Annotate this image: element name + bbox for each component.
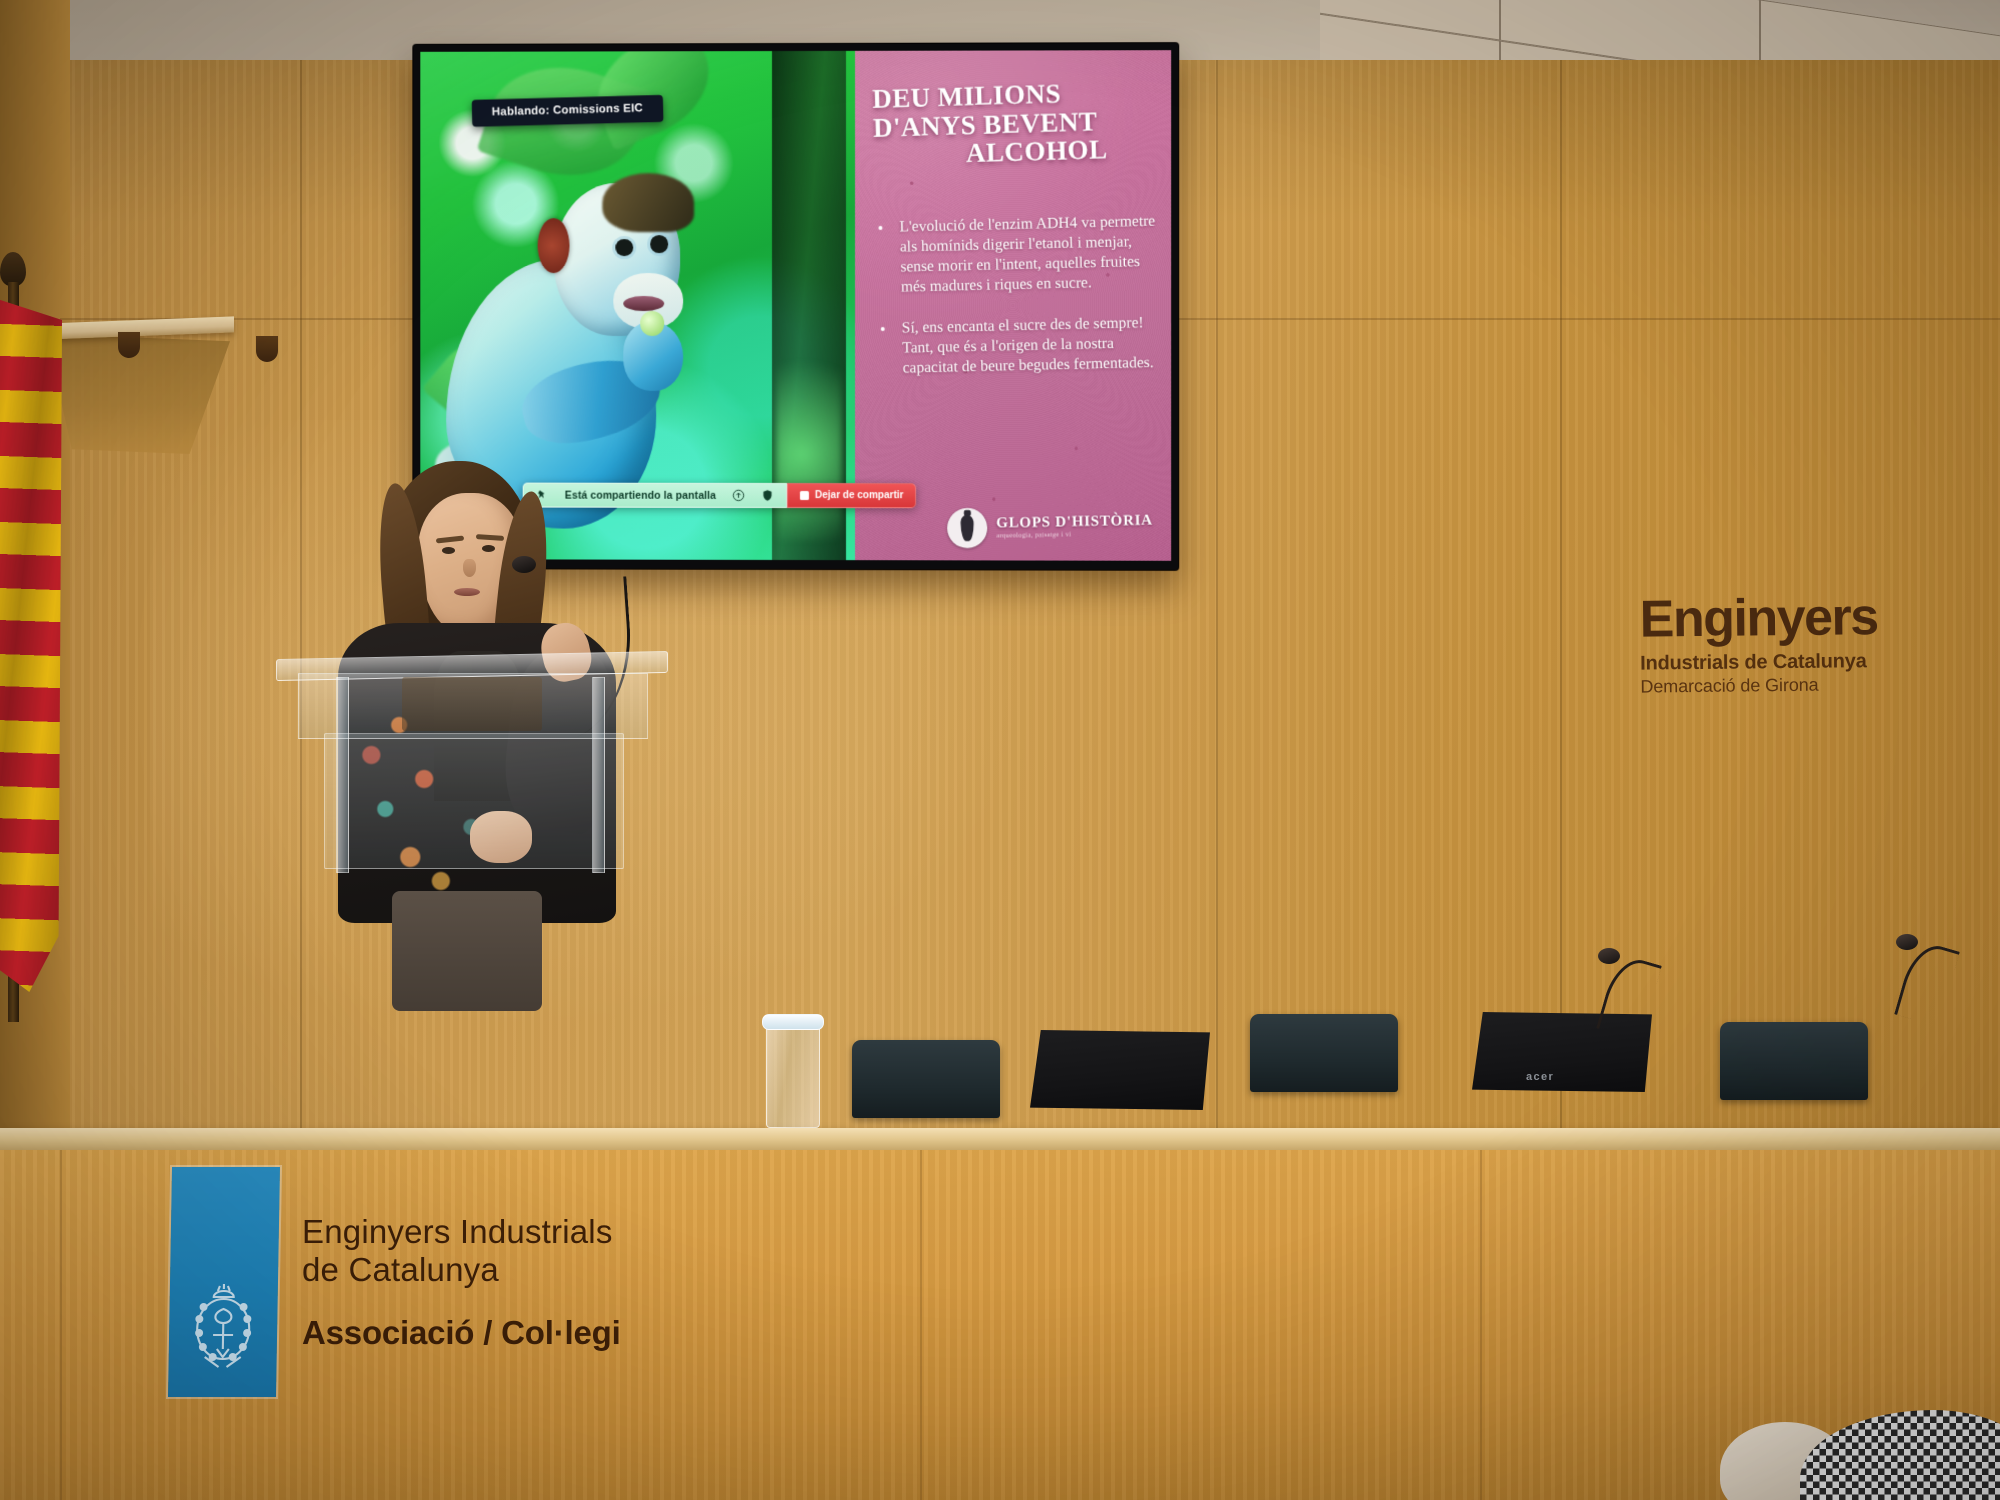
wall-seam [1216,60,1218,1150]
conference-room-photo: DEU MILIONS D'ANYS BEVENT ALCOHOL L'evol… [0,0,2000,1500]
stop-share-icon [800,491,809,500]
slide-title-line1: DEU MILIONS D'ANYS BEVENT [871,76,1157,142]
stop-share-button[interactable]: Dejar de compartir [787,483,916,508]
wall-sign-line2: Industrials de Catalunya [1640,649,1940,675]
plaque-line3: Associació / Col·legi [302,1314,772,1352]
wall-sign-enginyers: Enginyers Industrials de Catalunya Demar… [1639,590,1940,697]
slide-bullet: L'evolució de l'enzim ADH4 va permetre a… [893,211,1157,298]
gooseneck-microphone [1600,948,1670,1040]
flag-shading [0,292,62,992]
wall-sign-line3: Demarcació de Girona [1640,673,1940,697]
laurel-crest-icon [186,1279,260,1375]
stop-share-label: Dejar de compartir [815,490,903,501]
amphora-icon [947,508,988,549]
microphone-capsule [512,556,536,573]
plaque-line1: Enginyers Industrials [302,1213,772,1251]
glops-dhistoria-logo: GLOPS D'HISTÒRIA arqueologia, paisatge i… [947,504,1153,548]
chair [1720,1022,1868,1100]
slide-bullet-list: L'evolució de l'enzim ADH4 va permetre a… [871,211,1159,379]
acrylic-lectern [276,655,668,870]
plaque-line2: de Catalunya [302,1251,772,1289]
enginyers-wordmark: Enginyers [1639,591,1877,645]
plaque-blue-panel [168,1167,280,1397]
dais-counter-top [0,1128,2000,1152]
flag-finial [0,252,26,286]
chair [1250,1014,1398,1092]
upload-cloud-icon[interactable] [732,489,745,502]
laptop[interactable] [1030,1028,1210,1110]
shelf-bracket [118,332,140,358]
microphone-capsule [1896,934,1918,950]
dais-logo-plaque: Enginyers Industrials de Catalunya Assoc… [170,1165,790,1400]
laptop-brand-label: acer [1526,1071,1554,1083]
plaque-text: Enginyers Industrials de Catalunya Assoc… [302,1213,772,1352]
wall-seam [300,60,302,1150]
active-speaker-overlay: Hablando: Comissions EIC [472,95,664,127]
chair [852,1040,1000,1118]
shelf-bracket [256,336,278,362]
gooseneck-microphone [1898,934,1968,1026]
shield-icon[interactable] [761,489,774,502]
wall-seam [1560,60,1562,1150]
senyera-flag [0,252,80,1022]
slide-title: DEU MILIONS D'ANYS BEVENT ALCOHOL [871,76,1158,170]
water-carafe [762,1008,824,1128]
microphone-capsule [1598,948,1620,964]
slide-bullet: Sí, ens encanta el sucre des de sempre! … [895,312,1159,378]
